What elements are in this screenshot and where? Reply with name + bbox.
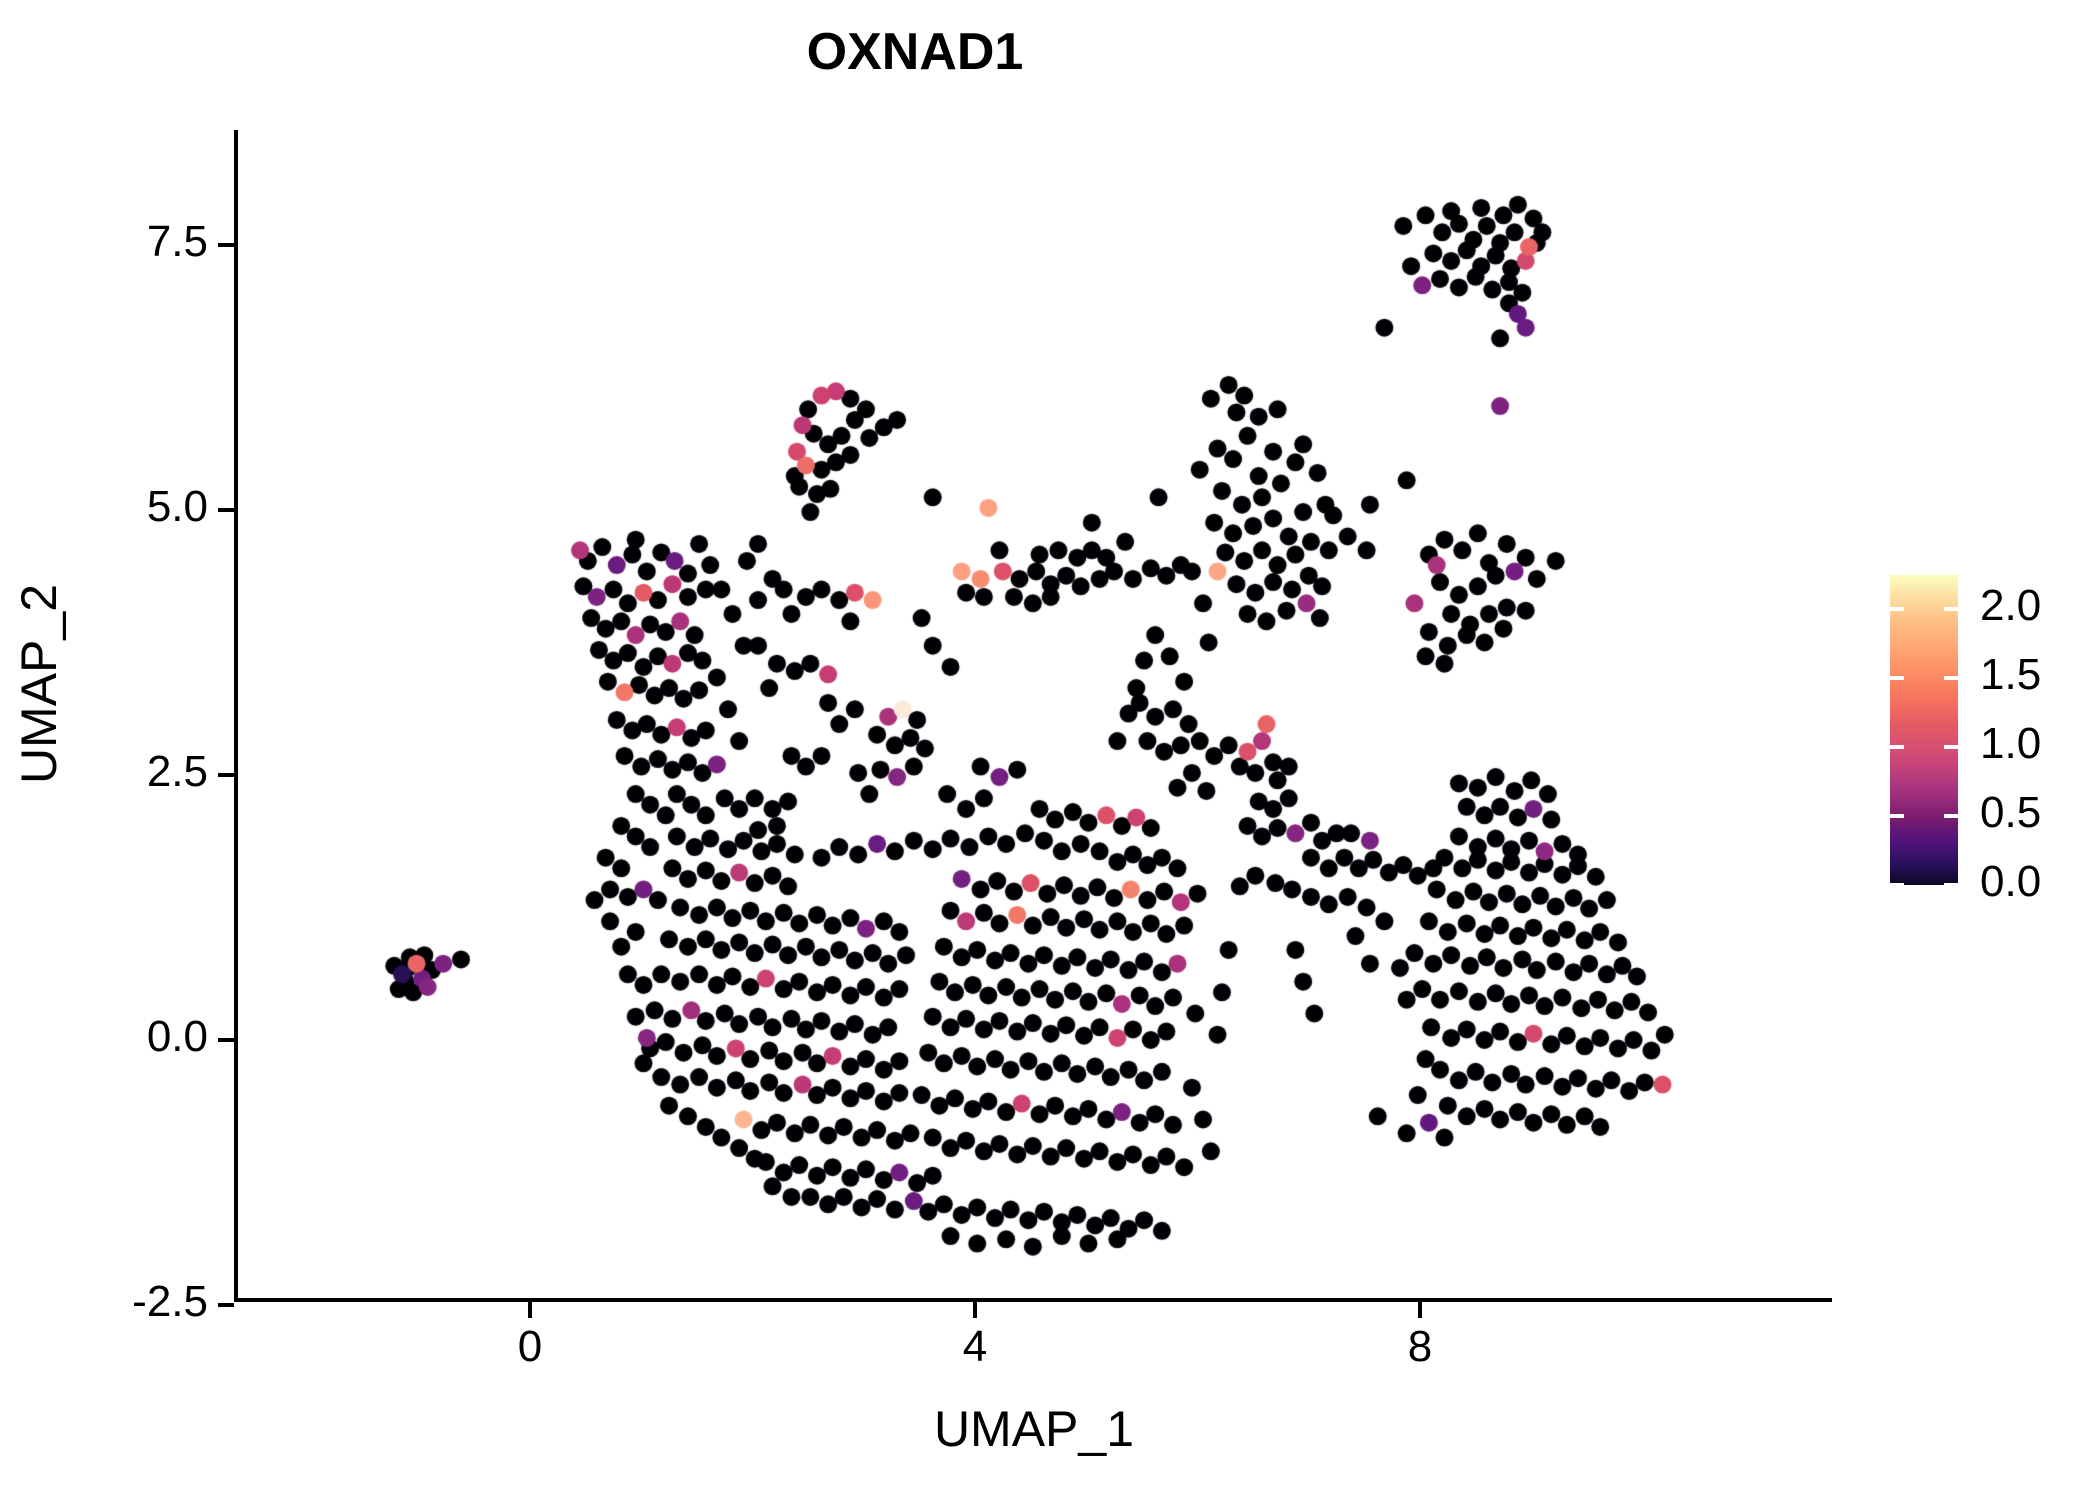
y-axis-title: UMAP_2 (10, 364, 68, 1004)
colorbar-legend: 2.01.51.00.50.0 (1890, 575, 2080, 915)
colorbar-tick-mark (1944, 745, 1958, 749)
y-tick-mark (218, 773, 234, 777)
colorbar-tick-label: 2.0 (1980, 581, 2041, 631)
colorbar-tick-mark (1944, 676, 1958, 680)
x-tick-label: 0 (450, 1322, 610, 1372)
y-tick-label: -2.5 (40, 1277, 208, 1327)
y-tick-label: 0.0 (40, 1012, 208, 1062)
y-tick-label: 7.5 (40, 217, 208, 267)
page-title: OXNAD1 (0, 22, 1830, 82)
colorbar-tick-label: 0.0 (1980, 857, 2041, 907)
y-tick-mark (218, 508, 234, 512)
x-axis-line (236, 1298, 1832, 1302)
colorbar-tick-mark (1890, 883, 1904, 887)
colorbar-tick-mark (1890, 607, 1904, 611)
x-tick-label: 4 (895, 1322, 1055, 1372)
colorbar-tick-label: 1.5 (1980, 650, 2041, 700)
colorbar-tick-mark (1890, 676, 1904, 680)
x-tick-mark (528, 1302, 532, 1318)
colorbar-tick-mark (1944, 814, 1958, 818)
y-tick-mark (218, 1303, 234, 1307)
scatter-points-layer (236, 130, 1830, 1300)
colorbar-tick-label: 0.5 (1980, 788, 2041, 838)
colorbar-tick-mark (1944, 883, 1958, 887)
umap-feature-plot: OXNAD1 7.55.02.50.0-2.5 048 UMAP_1 UMAP_… (0, 0, 2100, 1500)
y-tick-mark (218, 1038, 234, 1042)
colorbar-tick-mark (1890, 814, 1904, 818)
x-axis-title: UMAP_1 (236, 1400, 1832, 1458)
y-axis-line (234, 130, 238, 1302)
plot-panel (236, 130, 1830, 1300)
colorbar-tick-mark (1890, 745, 1904, 749)
colorbar-gradient (1890, 575, 1958, 885)
x-tick-mark (973, 1302, 977, 1318)
x-tick-mark (1418, 1302, 1422, 1318)
x-tick-label: 8 (1340, 1322, 1500, 1372)
colorbar-tick-label: 1.0 (1980, 719, 2041, 769)
colorbar-tick-mark (1944, 607, 1958, 611)
y-tick-mark (218, 243, 234, 247)
